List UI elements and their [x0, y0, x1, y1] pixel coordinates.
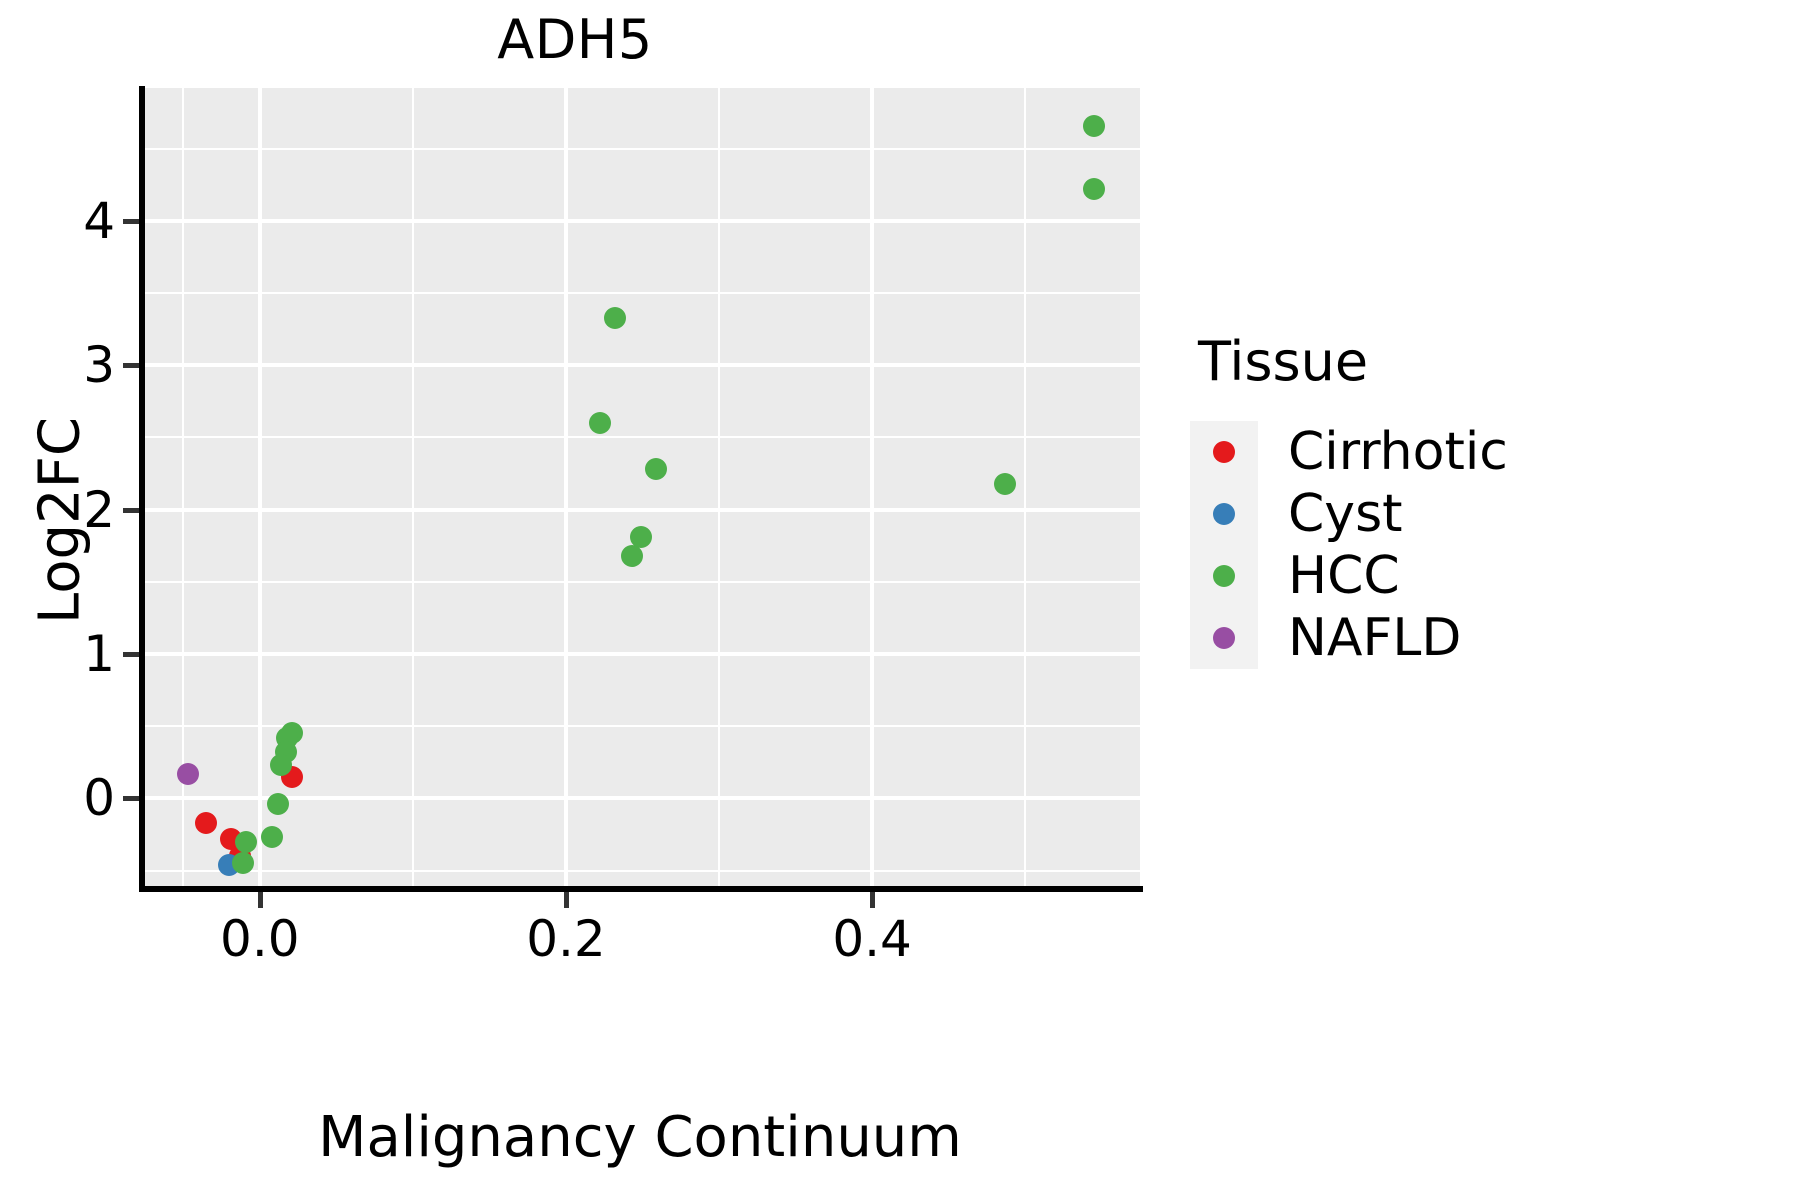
y-axis-tick-label: 0: [0, 769, 115, 827]
gridline-major-vertical: [564, 88, 568, 888]
x-axis-tick-label: 0.2: [466, 910, 666, 968]
legend-title: Tissue: [1198, 330, 1508, 393]
legend-dot-icon: [1213, 441, 1235, 463]
y-axis-tick-label: 4: [0, 192, 115, 250]
legend-key-swatch: [1190, 545, 1258, 607]
data-point: [261, 826, 283, 848]
data-point: [589, 412, 611, 434]
x-axis-title: Malignancy Continuum: [140, 1105, 1140, 1170]
legend: Tissue CirrhoticCystHCCNAFLD: [1190, 330, 1508, 669]
gridline-minor-horizontal: [145, 292, 1140, 294]
y-axis-tick: [123, 363, 139, 368]
gridline-major-horizontal: [145, 363, 1140, 367]
data-point: [645, 458, 667, 480]
page-title: ADH5: [0, 8, 1150, 71]
gridline-major-horizontal: [145, 652, 1140, 656]
legend-items: CirrhoticCystHCCNAFLD: [1190, 421, 1508, 669]
legend-key-swatch: [1190, 421, 1258, 483]
data-point: [232, 852, 254, 874]
legend-dot-icon: [1213, 565, 1235, 587]
legend-item-nafld[interactable]: NAFLD: [1190, 607, 1508, 669]
legend-dot-icon: [1213, 627, 1235, 649]
data-point: [270, 754, 292, 776]
data-point: [994, 473, 1016, 495]
x-axis-tick-label: 0.0: [160, 910, 360, 968]
x-axis-tick: [564, 892, 569, 908]
x-axis-tick: [870, 892, 875, 908]
gridline-major-vertical: [870, 88, 874, 888]
gridline-minor-vertical: [1024, 88, 1026, 888]
y-axis-tick: [123, 796, 139, 801]
data-point: [267, 793, 289, 815]
legend-item-cyst[interactable]: Cyst: [1190, 483, 1508, 545]
data-point: [195, 812, 217, 834]
legend-item-label: HCC: [1288, 550, 1400, 602]
y-axis-tick: [123, 219, 139, 224]
legend-item-label: NAFLD: [1288, 612, 1461, 664]
gridline-major-horizontal: [145, 508, 1140, 512]
gridline-minor-horizontal: [145, 581, 1140, 583]
gridline-minor-horizontal: [145, 870, 1140, 872]
data-point: [1083, 115, 1105, 137]
x-axis-spine: [139, 886, 1143, 892]
y-axis-tick: [123, 508, 139, 513]
gridline-minor-vertical: [718, 88, 720, 888]
data-point: [621, 545, 643, 567]
data-point: [235, 831, 257, 853]
y-axis-tick: [123, 652, 139, 657]
legend-key-swatch: [1190, 607, 1258, 669]
x-axis-tick: [258, 892, 263, 908]
gridline-major-vertical: [258, 88, 262, 888]
data-point: [177, 763, 199, 785]
gridline-major-horizontal: [145, 796, 1140, 800]
gridline-minor-vertical: [412, 88, 414, 888]
legend-dot-icon: [1213, 503, 1235, 525]
legend-item-hcc[interactable]: HCC: [1190, 545, 1508, 607]
legend-item-cirrhotic[interactable]: Cirrhotic: [1190, 421, 1508, 483]
gridline-minor-horizontal: [145, 436, 1140, 438]
y-axis-spine: [139, 86, 145, 890]
plot-panel: [145, 88, 1140, 888]
legend-item-label: Cirrhotic: [1288, 426, 1508, 478]
data-point: [604, 307, 626, 329]
data-point: [1083, 178, 1105, 200]
y-axis-title: Log2FC: [28, 291, 93, 751]
legend-key-swatch: [1190, 483, 1258, 545]
legend-item-label: Cyst: [1288, 488, 1403, 540]
gridline-minor-horizontal: [145, 148, 1140, 150]
chart-root: ADH5 012340.00.20.4 Log2FC Malignancy Co…: [0, 0, 1800, 1200]
x-axis-tick-label: 0.4: [772, 910, 972, 968]
gridline-major-horizontal: [145, 219, 1140, 223]
